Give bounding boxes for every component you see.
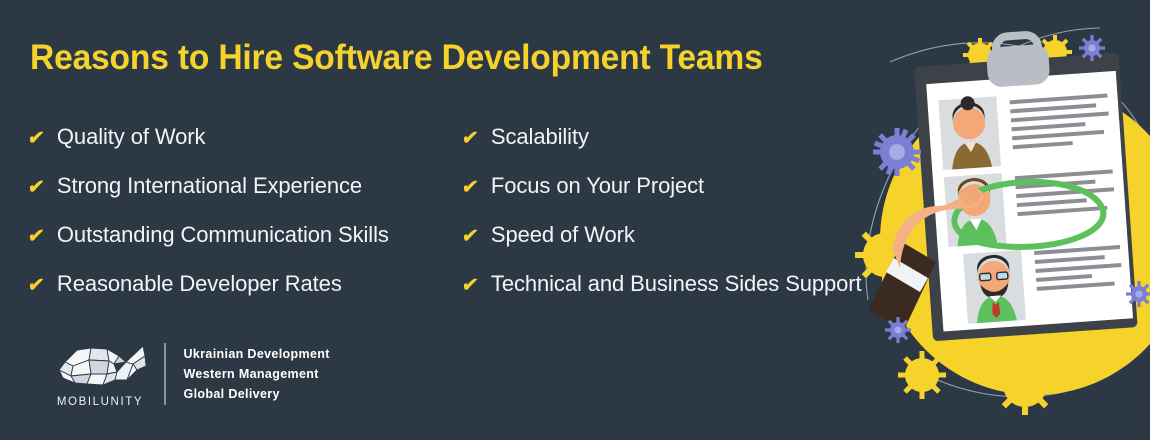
list-item: ✔ Outstanding Communication Skills [28,222,389,271]
infographic-banner: Reasons to Hire Software Development Tea… [0,0,1150,440]
gear-purple-large [873,128,921,176]
tagline-line-2: Western Management [184,364,330,384]
yellow-circle-backdrop [880,85,1150,395]
list-item-label: Focus on Your Project [491,173,704,199]
check-icon: ✔ [27,276,46,295]
resume-text-block-1 [1010,94,1111,150]
orbit-arcs [866,28,1150,397]
list-item: ✔ Scalability [462,124,862,173]
check-icon: ✔ [27,129,46,148]
clipboard [912,29,1137,342]
page-title: Reasons to Hire Software Development Tea… [30,38,763,78]
check-icon: ✔ [27,178,46,197]
list-item-label: Outstanding Communication Skills [57,222,389,248]
list-item-label: Quality of Work [57,124,205,150]
list-item: ✔ Speed of Work [462,222,862,271]
benefits-list-left: ✔ Quality of Work ✔ Strong International… [28,124,389,320]
check-icon: ✔ [461,276,480,295]
list-item-label: Scalability [491,124,589,150]
list-item: ✔ Quality of Work [28,124,389,173]
candidate-photo-3 [963,250,1026,324]
check-icon: ✔ [461,178,480,197]
check-icon: ✔ [461,129,480,148]
list-item: ✔ Technical and Business Sides Support [462,271,862,320]
gear-purple-small [1126,281,1150,307]
logo: MOBILUNITY [46,340,154,408]
list-item-label: Reasonable Developer Rates [57,271,342,297]
list-item-label: Technical and Business Sides Support [491,271,862,297]
logo-wordmark: MOBILUNITY [46,396,154,408]
resume-text-block-3 [1034,245,1123,291]
list-item: ✔ Reasonable Developer Rates [28,271,389,320]
gear-purple-small [885,317,911,343]
green-selection-circle [954,182,1103,247]
check-icon: ✔ [461,227,480,246]
candidate-photo-1 [938,94,1001,170]
hand-drawing-check [868,187,983,330]
check-icon: ✔ [27,227,46,246]
clipboard-clip [985,34,1050,88]
recruiter-selecting-candidate-illustration [850,0,1150,440]
tagline: Ukrainian Development Western Management… [184,344,330,404]
brand-footer: MOBILUNITY Ukrainian Development Western… [46,340,330,408]
list-item-label: Speed of Work [491,222,635,248]
list-item: ✔ Strong International Experience [28,173,389,222]
tagline-line-3: Global Delivery [184,384,330,404]
resume-text-block-2 [1015,169,1116,216]
tagline-line-1: Ukrainian Development [184,344,330,364]
list-item: ✔ Focus on Your Project [462,173,862,222]
resume-paper [926,71,1133,332]
gear-yellow [855,35,1072,415]
divider [164,343,166,405]
list-item-label: Strong International Experience [57,173,362,199]
whale-logo-icon [51,340,149,392]
candidate-photo-2 [944,173,1007,247]
gear-purple-small [1079,35,1105,61]
benefits-list-right: ✔ Scalability ✔ Focus on Your Project ✔ … [462,124,862,320]
